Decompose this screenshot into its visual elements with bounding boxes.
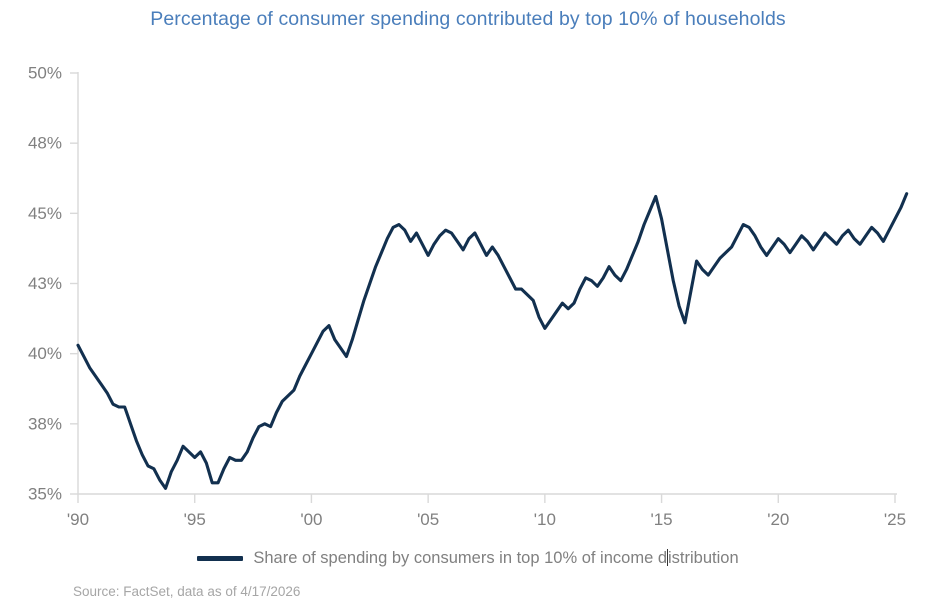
legend-label-part-one: Share of spending by consumers in top 10… xyxy=(253,549,667,567)
x-tick-label: '00 xyxy=(300,510,322,529)
source-note: Source: FactSet, data as of 4/17/2026 xyxy=(73,584,300,599)
chart-axes xyxy=(70,72,897,503)
x-tick-label: '10 xyxy=(534,510,556,529)
y-axis-tick-labels: 50%48%45%43%40%38%35% xyxy=(28,63,62,503)
x-tick-label: '95 xyxy=(184,510,206,529)
chart-container: Percentage of consumer spending contribu… xyxy=(0,0,936,615)
line-chart-plot: 50%48%45%43%40%38%35% '90'95'00'05'10'15… xyxy=(0,0,936,615)
y-tick-label: 35% xyxy=(28,484,62,503)
x-tick-label: '25 xyxy=(884,510,906,529)
y-tick-label: 48% xyxy=(28,134,62,153)
y-tick-label: 43% xyxy=(28,274,62,293)
x-tick-label: '90 xyxy=(67,510,89,529)
x-tick-label: '05 xyxy=(417,510,439,529)
legend-item-label[interactable]: Share of spending by consumers in top 10… xyxy=(253,549,738,568)
legend-label-part-two: istribution xyxy=(668,549,739,567)
x-axis-tick-labels: '90'95'00'05'10'15'20'25 xyxy=(67,510,906,529)
x-tick-label: '20 xyxy=(767,510,789,529)
legend-color-swatch xyxy=(197,556,243,561)
chart-series-lines xyxy=(78,194,907,489)
y-tick-label: 38% xyxy=(28,414,62,433)
y-tick-label: 50% xyxy=(28,63,62,82)
y-tick-label: 40% xyxy=(28,344,62,363)
chart-legend: Share of spending by consumers in top 10… xyxy=(0,549,936,568)
y-tick-label: 45% xyxy=(28,204,62,223)
x-tick-label: '15 xyxy=(650,510,672,529)
series-line-0 xyxy=(78,194,907,489)
